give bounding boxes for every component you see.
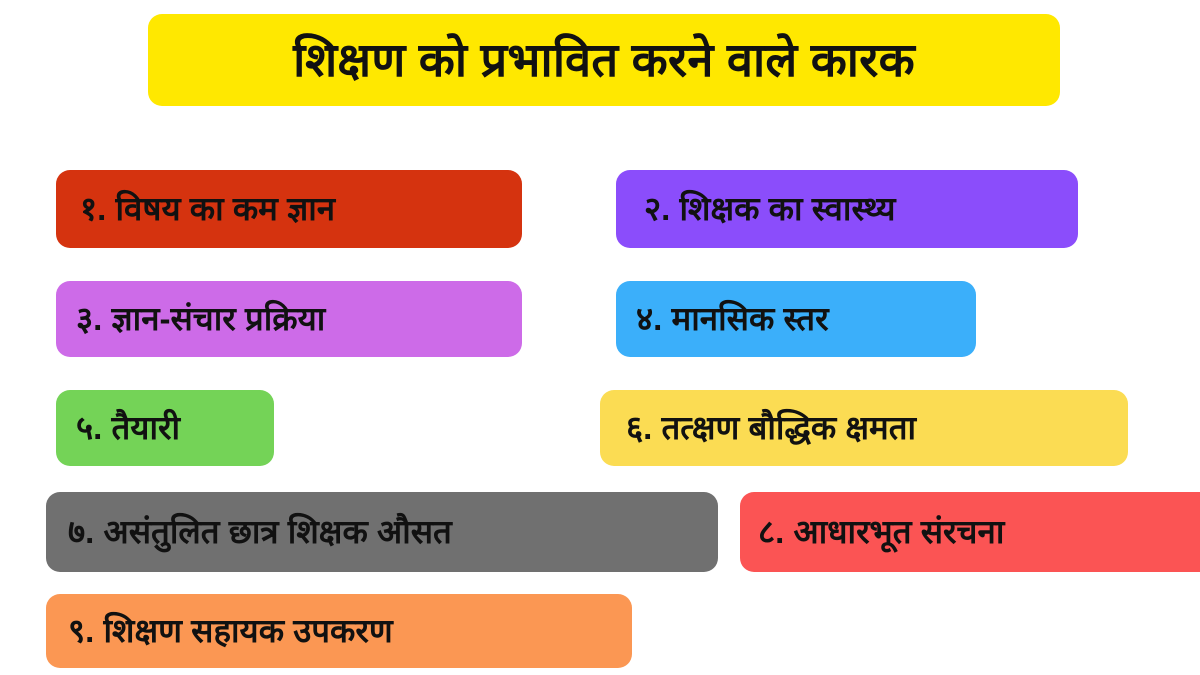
factor-item-1-label: १. विषय का कम ज्ञान [80,192,335,227]
factor-item-4: ४. मानसिक स्तर [616,281,976,357]
poster-canvas: शिक्षण को प्रभावित करने वाले कारक १. विष… [0,0,1200,675]
factor-item-7-label: ७. असंतुलित छात्र शिक्षक औसत [68,515,452,550]
factor-item-9-label: ९. शिक्षण सहायक उपकरण [68,614,393,649]
factor-item-6-label: ६. तत्क्षण बौद्धिक क्षमता [626,411,916,446]
factor-item-9: ९. शिक्षण सहायक उपकरण [46,594,632,668]
page-title: शिक्षण को प्रभावित करने वाले कारक [293,35,915,84]
factor-item-8-label: ८. आधारभूत संरचना [758,515,1004,550]
factor-item-6: ६. तत्क्षण बौद्धिक क्षमता [600,390,1128,466]
factor-item-3-label: ३. ज्ञान-संचार प्रक्रिया [76,302,325,337]
factor-item-5-label: ५. तैयारी [76,411,180,446]
factor-item-2-label: २. शिक्षक का स्वास्थ्य [644,192,896,227]
factor-item-2: २. शिक्षक का स्वास्थ्य [616,170,1078,248]
factor-item-3: ३. ज्ञान-संचार प्रक्रिया [56,281,522,357]
factor-item-7: ७. असंतुलित छात्र शिक्षक औसत [46,492,718,572]
factor-item-8: ८. आधारभूत संरचना [740,492,1200,572]
factor-item-1: १. विषय का कम ज्ञान [56,170,522,248]
factor-item-5: ५. तैयारी [56,390,274,466]
poster-title-banner: शिक्षण को प्रभावित करने वाले कारक [148,14,1060,106]
factor-item-4-label: ४. मानसिक स्तर [636,302,829,337]
